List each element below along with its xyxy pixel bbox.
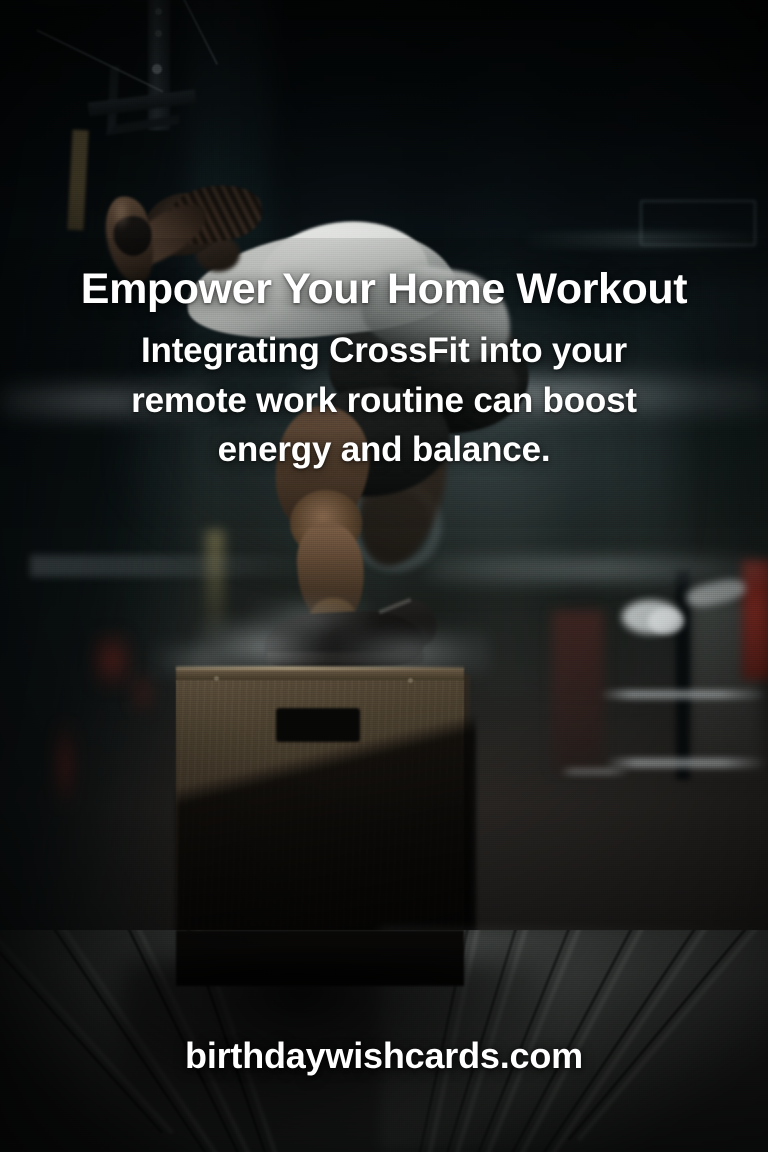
page-title: Empower Your Home Workout bbox=[0, 268, 768, 312]
background-column bbox=[676, 570, 690, 780]
rig-bolt bbox=[152, 64, 162, 74]
hanging-strap bbox=[67, 130, 88, 231]
film-grain bbox=[0, 0, 768, 1152]
chalk-dust bbox=[250, 596, 370, 636]
athlete-knee bbox=[290, 490, 362, 556]
athlete-hand bbox=[104, 193, 153, 253]
red-equipment-accent bbox=[128, 670, 158, 716]
gear-highlight bbox=[622, 600, 680, 634]
boxing-ring-post bbox=[742, 560, 768, 680]
background-machine-glow bbox=[206, 530, 224, 640]
red-equipment-accent bbox=[52, 720, 78, 810]
gear-highlight bbox=[648, 608, 684, 634]
ring-rope bbox=[606, 758, 768, 768]
athlete-ankle bbox=[310, 598, 356, 638]
weight-plate-stack bbox=[552, 610, 604, 770]
weight-plate-wheel bbox=[348, 478, 442, 572]
athlete-glove bbox=[110, 212, 155, 259]
subtitle-line-2: remote work routine can boost bbox=[64, 376, 704, 426]
athlete-shoe-sole bbox=[266, 652, 424, 664]
ring-rope bbox=[560, 768, 630, 775]
ring-rope bbox=[600, 690, 768, 699]
subtitle: Integrating CrossFit into your remote wo… bbox=[64, 326, 704, 475]
plyo-box-top bbox=[176, 668, 464, 684]
rig-cable bbox=[162, 0, 218, 65]
gear-highlight bbox=[684, 576, 747, 610]
pullup-rig-post bbox=[148, 0, 170, 130]
poster-canvas: Empower Your Home Workout Integrating Cr… bbox=[0, 0, 768, 1152]
pullup-rig-brace bbox=[107, 56, 183, 136]
chalk-dust bbox=[198, 618, 328, 676]
left-shadow-mass bbox=[0, 0, 190, 960]
wall-sign-frame bbox=[640, 200, 756, 246]
athlete-shoe bbox=[263, 608, 426, 672]
athlete-head bbox=[136, 187, 225, 264]
subtitle-line-1: Integrating CrossFit into your bbox=[64, 326, 704, 376]
wall-dark-panel bbox=[268, 0, 768, 280]
athlete-shoe-lace bbox=[378, 598, 411, 614]
gym-background bbox=[0, 0, 768, 1152]
athlete-shoe-heel bbox=[377, 596, 439, 651]
rig-bolt bbox=[155, 8, 162, 15]
floor-plank-seam bbox=[0, 930, 163, 1134]
floor-plank-highlight bbox=[0, 930, 174, 1135]
footer-block: birthdaywishcards.com bbox=[0, 1035, 768, 1077]
plyo-box-base bbox=[176, 930, 464, 986]
plyo-box-face bbox=[176, 680, 464, 986]
rig-cable bbox=[37, 29, 164, 92]
red-equipment-accent bbox=[90, 630, 134, 690]
plyo-box-handle bbox=[276, 708, 360, 742]
plyo-box-nail bbox=[214, 676, 219, 681]
plyo-box-edge-highlight bbox=[176, 666, 464, 670]
subtitle-line-3: energy and balance. bbox=[64, 425, 704, 475]
chalk-dust bbox=[330, 628, 490, 678]
wall-light-smudge bbox=[520, 232, 768, 248]
athlete-calf bbox=[294, 519, 369, 628]
plyo-box-shadow bbox=[176, 690, 476, 990]
plyo-box-nail bbox=[408, 678, 413, 683]
background-machine-strip bbox=[30, 555, 310, 577]
athlete-hair-locks bbox=[162, 177, 267, 250]
plyo-box-side bbox=[436, 669, 470, 974]
site-url-text: birthdaywishcards.com bbox=[0, 1035, 768, 1077]
rig-bolt bbox=[155, 30, 162, 37]
light-streak bbox=[430, 556, 768, 582]
boxing-ring-corner bbox=[690, 600, 760, 770]
vignette bbox=[0, 0, 768, 1152]
top-darkening-gradient bbox=[0, 0, 768, 230]
hand-highlight bbox=[112, 200, 130, 230]
plyo-box-woodgrain bbox=[176, 680, 464, 986]
chalk-dust bbox=[150, 640, 240, 680]
pullup-rig-arm bbox=[88, 89, 197, 116]
headline-block: Empower Your Home Workout Integrating Cr… bbox=[0, 268, 768, 475]
